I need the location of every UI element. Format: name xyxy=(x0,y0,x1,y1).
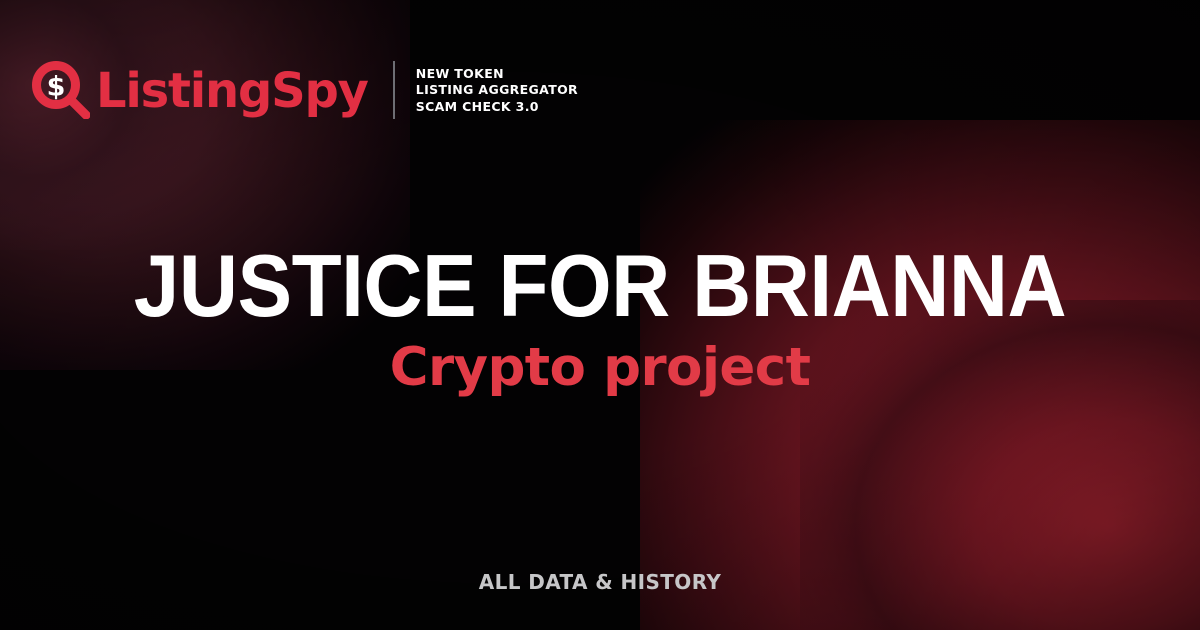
svg-text:$: $ xyxy=(47,72,66,103)
page-title: JUSTICE FOR BRIANNA xyxy=(42,244,1158,328)
magnifier-dollar-icon: $ xyxy=(32,61,90,119)
footer-caption: ALL DATA & HISTORY xyxy=(0,570,1200,594)
share-card: $ ListingSpy NEW TOKEN LISTING AGGREGATO… xyxy=(0,0,1200,630)
tagline-line-1: NEW TOKEN xyxy=(416,67,578,81)
brand-wordmark: ListingSpy xyxy=(96,67,368,115)
hero-text-block: JUSTICE FOR BRIANNA Crypto project xyxy=(0,244,1200,398)
tagline-line-2: LISTING AGGREGATOR xyxy=(416,83,578,97)
tagline-line-3: SCAM CHECK 3.0 xyxy=(416,100,578,114)
page-subtitle: Crypto project xyxy=(0,338,1200,397)
brand-tagline: NEW TOKEN LISTING AGGREGATOR SCAM CHECK … xyxy=(416,67,578,114)
brand-logo[interactable]: $ ListingSpy NEW TOKEN LISTING AGGREGATO… xyxy=(32,54,578,126)
logo-divider xyxy=(393,61,395,119)
